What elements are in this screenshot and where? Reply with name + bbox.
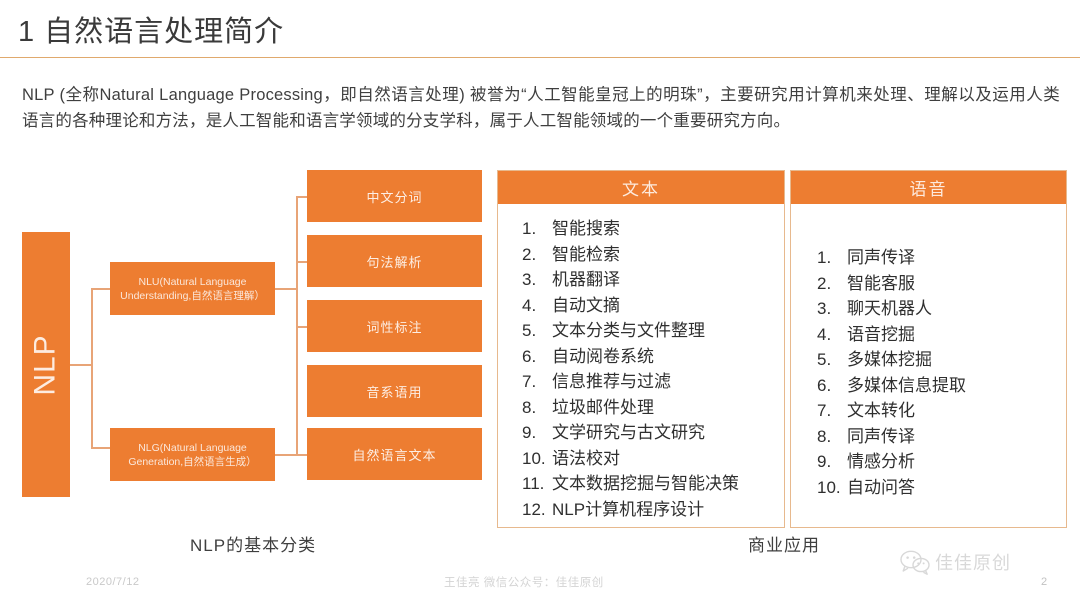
- list-item-number: 1.: [522, 216, 552, 242]
- diagram-leaf-syntactic-parsing[interactable]: 句法解析: [307, 235, 482, 287]
- list-item-label: 语音挖掘: [847, 322, 915, 348]
- page-title: 1 自然语言处理简介: [18, 8, 284, 50]
- list-item-label: 多媒体挖掘: [847, 347, 932, 373]
- list-item: 10.语法校对: [522, 446, 784, 472]
- list-item-number: 1.: [817, 245, 847, 271]
- list-item: 7.文本转化: [817, 398, 1066, 424]
- list-item: 2.智能客服: [817, 271, 1066, 297]
- list-item: 8.垃圾邮件处理: [522, 395, 784, 421]
- list-item-label: 文本转化: [847, 398, 915, 424]
- diagram-leaf-chinese-segmentation[interactable]: 中文分词: [307, 170, 482, 222]
- list-item-number: 9.: [522, 420, 552, 446]
- list-item-number: 6.: [522, 344, 552, 370]
- list-item-number: 10.: [817, 475, 847, 501]
- applications-caption: 商业应用: [748, 531, 820, 556]
- diagram-node-nlu[interactable]: NLU(Natural Language Understanding,自然语言理…: [110, 262, 275, 315]
- list-item-label: 自动文摘: [552, 293, 620, 319]
- diagram-leaf-label: 句法解析: [366, 252, 422, 271]
- list-item: 3.机器翻译: [522, 267, 784, 293]
- list-item: 9.情感分析: [817, 449, 1066, 475]
- wechat-icon: [900, 550, 930, 575]
- list-item-label: 智能客服: [847, 271, 915, 297]
- panel-text-applications: 文本 1.智能搜索 2.智能检索 3.机器翻译 4.自动文摘 5.文本分类与文件…: [497, 170, 785, 528]
- list-item-label: 聊天机器人: [847, 296, 932, 322]
- list-item: 2.智能检索: [522, 242, 784, 268]
- voice-application-list: 1.同声传译 2.智能客服 3.聊天机器人 4.语音挖掘 5.多媒体挖掘 6.多…: [817, 245, 1066, 500]
- diagram-node-nlu-label: NLU(Natural Language Understanding,自然语言理…: [114, 275, 271, 303]
- connector-root-stub: [70, 364, 92, 366]
- watermark-label: 佳佳原创: [935, 549, 1011, 575]
- connector-nlg-to-leaf-4: [275, 454, 308, 456]
- list-item-number: 6.: [817, 373, 847, 399]
- list-item-label: 自动问答: [847, 475, 915, 501]
- list-item-number: 3.: [817, 296, 847, 322]
- list-item: 1.智能搜索: [522, 216, 784, 242]
- list-item-label: 文学研究与古文研究: [552, 420, 705, 446]
- panel-text-body: 1.智能搜索 2.智能检索 3.机器翻译 4.自动文摘 5.文本分类与文件整理 …: [498, 204, 784, 522]
- watermark: 佳佳原创: [900, 549, 1011, 575]
- diagram-leaf-label: 自然语言文本: [352, 445, 436, 464]
- list-item-label: 智能搜索: [552, 216, 620, 242]
- list-item-number: 12.: [522, 497, 552, 523]
- list-item: 12.NLP计算机程序设计: [522, 497, 784, 523]
- list-item-number: 5.: [817, 347, 847, 373]
- list-item-label: 语法校对: [552, 446, 620, 472]
- list-item-number: 8.: [817, 424, 847, 450]
- list-item: 4.自动文摘: [522, 293, 784, 319]
- list-item-label: 信息推荐与过滤: [552, 369, 671, 395]
- list-item-number: 7.: [817, 398, 847, 424]
- footer-date: 2020/7/12: [86, 576, 139, 588]
- title-divider: [0, 57, 1080, 58]
- page-number: 2: [1041, 576, 1047, 588]
- connector-to-nlu: [91, 288, 111, 290]
- list-item-label: 同声传译: [847, 424, 915, 450]
- list-item-number: 2.: [522, 242, 552, 268]
- diagram-leaf-label: 音系语用: [366, 382, 422, 401]
- list-item-label: 智能检索: [552, 242, 620, 268]
- list-item: 11.文本数据挖掘与智能决策: [522, 471, 784, 497]
- list-item: 8.同声传译: [817, 424, 1066, 450]
- list-item: 10.自动问答: [817, 475, 1066, 501]
- panel-voice-applications: 语音 1.同声传译 2.智能客服 3.聊天机器人 4.语音挖掘 5.多媒体挖掘 …: [790, 170, 1067, 528]
- diagram-caption: NLP的基本分类: [190, 531, 316, 556]
- diagram-node-nlp-root[interactable]: NLP: [22, 232, 70, 497]
- list-item-number: 7.: [522, 369, 552, 395]
- list-item-number: 10.: [522, 446, 552, 472]
- diagram-leaf-pos-tagging[interactable]: 词性标注: [307, 300, 482, 352]
- list-item: 9.文学研究与古文研究: [522, 420, 784, 446]
- nlp-classification-diagram: NLP NLU(Natural Language Understanding,自…: [0, 160, 495, 540]
- list-item: 6.多媒体信息提取: [817, 373, 1066, 399]
- list-item-number: 4.: [817, 322, 847, 348]
- list-item: 6.自动阅卷系统: [522, 344, 784, 370]
- list-item-number: 3.: [522, 267, 552, 293]
- diagram-leaf-label: 中文分词: [366, 187, 422, 206]
- intro-paragraph: NLP (全称Natural Language Processing，即自然语言…: [22, 82, 1060, 134]
- diagram-node-nlg-label: NLG(Natural Language Generation,自然语言生成）: [114, 441, 271, 469]
- list-item-label: 机器翻译: [552, 267, 620, 293]
- list-item-number: 9.: [817, 449, 847, 475]
- connector-to-nlg: [91, 447, 111, 449]
- list-item-label: 同声传译: [847, 245, 915, 271]
- list-item-label: 自动阅卷系统: [552, 344, 654, 370]
- list-item-number: 4.: [522, 293, 552, 319]
- list-item: 5.文本分类与文件整理: [522, 318, 784, 344]
- connector-branch-spine: [91, 288, 93, 448]
- diagram-leaf-phonology-pragmatics[interactable]: 音系语用: [307, 365, 482, 417]
- list-item-label: 文本数据挖掘与智能决策: [552, 471, 739, 497]
- list-item-number: 5.: [522, 318, 552, 344]
- diagram-leaf-label: 词性标注: [366, 317, 422, 336]
- footer-credit: 王佳亮 微信公众号：佳佳原创: [444, 574, 604, 590]
- list-item: 3.聊天机器人: [817, 296, 1066, 322]
- diagram-node-nlg[interactable]: NLG(Natural Language Generation,自然语言生成）: [110, 428, 275, 481]
- diagram-leaf-natural-language-text[interactable]: 自然语言文本: [307, 428, 482, 480]
- list-item: 4.语音挖掘: [817, 322, 1066, 348]
- list-item-label: 文本分类与文件整理: [552, 318, 705, 344]
- connector-nlu-stub: [275, 288, 297, 290]
- diagram-node-nlp-root-label: NLP: [29, 334, 63, 395]
- list-item: 1.同声传译: [817, 245, 1066, 271]
- text-application-list: 1.智能搜索 2.智能检索 3.机器翻译 4.自动文摘 5.文本分类与文件整理 …: [522, 216, 784, 522]
- list-item-label: 多媒体信息提取: [847, 373, 966, 399]
- list-item-number: 2.: [817, 271, 847, 297]
- panel-voice-header: 语音: [791, 171, 1066, 204]
- list-item-label: 垃圾邮件处理: [552, 395, 654, 421]
- list-item-label: 情感分析: [847, 449, 915, 475]
- list-item-number: 11.: [522, 471, 552, 497]
- panel-voice-body: 1.同声传译 2.智能客服 3.聊天机器人 4.语音挖掘 5.多媒体挖掘 6.多…: [791, 204, 1066, 500]
- list-item-label: NLP计算机程序设计: [552, 497, 704, 523]
- list-item: 5.多媒体挖掘: [817, 347, 1066, 373]
- panel-text-header: 文本: [498, 171, 784, 204]
- list-item-number: 8.: [522, 395, 552, 421]
- list-item: 7.信息推荐与过滤: [522, 369, 784, 395]
